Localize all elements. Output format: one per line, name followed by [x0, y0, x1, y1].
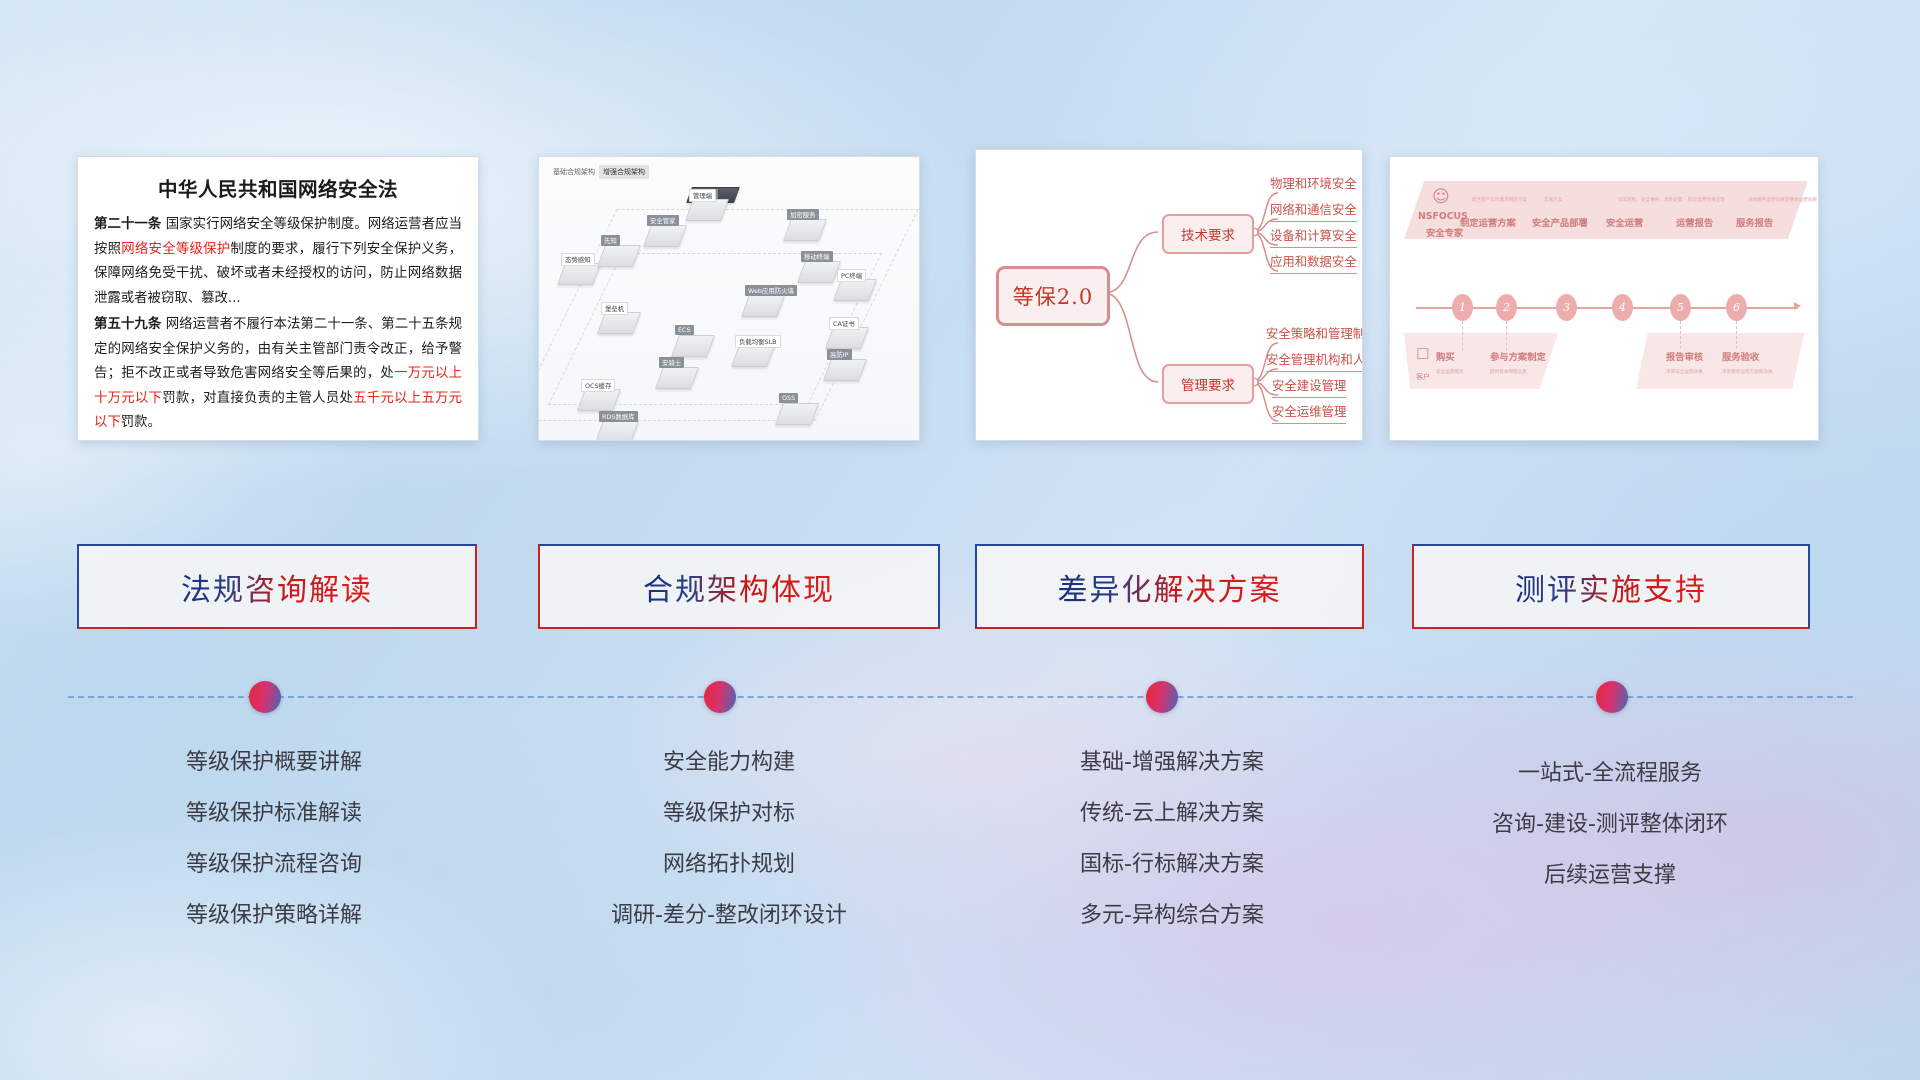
architecture-node — [825, 327, 869, 349]
architecture-node — [595, 421, 639, 441]
nsfocus-step-connector — [1736, 321, 1737, 349]
section-item: 安全能力构建 — [499, 737, 959, 788]
section-item: 后续运营支撑 — [1380, 850, 1840, 901]
architecture-node — [775, 403, 819, 425]
nsfocus-axis-arrow — [1794, 302, 1801, 310]
card-law-text: 中华人民共和国网络安全法 第二十一条 国家实行网络安全等级保护制度。网络运营者应… — [77, 156, 479, 441]
nsfocus-bottom-band-right — [1636, 333, 1804, 389]
mindmap-root: 等保2.0 — [996, 266, 1110, 326]
nsfocus-bottom-step-title: 报告审核 — [1666, 349, 1703, 363]
nsfocus-top-step-sub: 日常巡检、安全事件、高危处置 — [1618, 197, 1682, 203]
section-items-4: 一站式-全流程服务咨询-建设-测评整体闭环后续运营支撑 — [1380, 748, 1840, 901]
section-title-box-3[interactable]: 差异化解决方案 — [975, 544, 1364, 629]
architecture-node-label: 管理端 — [689, 189, 716, 202]
architecture-node-label: 安全管家 — [647, 215, 679, 226]
section-title-text: 差异化解决方案 — [1058, 565, 1282, 609]
nsfocus-step-dot: 2 — [1496, 294, 1517, 321]
article-59-text-b: 罚款，对直接负责的主管人员处 — [162, 391, 353, 406]
nsfocus-bottom-step-sub: 评审整体运营方案和效果 — [1722, 369, 1773, 375]
nsfocus-step-connector — [1506, 321, 1507, 351]
section-items-1: 等级保护概要讲解等级保护标准解读等级保护流程咨询等级保护策略详解 — [44, 737, 504, 941]
section-title-box-4[interactable]: 测评实施支持 — [1412, 544, 1810, 629]
nsfocus-bottom-step-sub: 安全运营服务 — [1436, 369, 1464, 375]
timeline-dot-4 — [1596, 681, 1628, 713]
cards-row: 中华人民共和国网络安全法 第二十一条 国家实行网络安全等级保护制度。网络运营者应… — [0, 0, 1920, 460]
timeline-dashed-line — [68, 696, 1853, 698]
section-item: 等级保护策略详解 — [44, 890, 504, 941]
section-item: 等级保护对标 — [499, 788, 959, 839]
architecture-tabs: 基础合规架构增强合规架构 — [549, 165, 649, 179]
timeline-dot-1 — [249, 681, 281, 713]
section-item: 国标-行标解决方案 — [942, 839, 1402, 890]
nsfocus-top-step-sub: 实施方案 — [1544, 197, 1562, 203]
nsfocus-top-step-title: 制定运营方案 — [1460, 215, 1516, 229]
section-item: 多元-异构综合方案 — [942, 890, 1402, 941]
nsfocus-step-dot: 6 — [1726, 294, 1747, 321]
nsfocus-bottom-step-title: 购买 — [1436, 349, 1455, 363]
nsfocus-top-step-sub: 总体服务运营效果及整体运营效果 — [1748, 197, 1817, 203]
architecture-node-label: 高防IP — [827, 349, 852, 360]
nsfocus-step-dot: 1 — [1452, 294, 1473, 321]
nsfocus-step-connector — [1462, 321, 1463, 351]
nsfocus-top-step-title: 安全运营 — [1606, 215, 1643, 229]
card-mindmap: 等保2.0 技术要求 管理要求 物理和环境安全 网络和通信安全 设备和计算安全 … — [975, 149, 1363, 441]
mindmap-leaf-m0: 安全策略和管理制度 — [1266, 324, 1363, 345]
architecture-node-label: ECS — [675, 325, 694, 335]
nsfocus-top-step-title: 服务报告 — [1736, 215, 1773, 229]
mindmap-leaf-t2: 设备和计算安全 — [1270, 226, 1357, 248]
nsfocus-canvas: ☺ NSFOCUS 安全专家 ☐ 客户 结合客户实际需求制定方案制定运营方案实施… — [1390, 157, 1818, 440]
architecture-tab-0[interactable]: 基础合规架构 — [549, 165, 599, 179]
article-59-text-c: 罚款。 — [121, 415, 161, 430]
architecture-node-label: 加密服务 — [787, 209, 819, 220]
mindmap-leaf-m1: 安全管理机构和人员 — [1266, 350, 1363, 372]
mindmap-leaf-m3: 安全运维管理 — [1272, 402, 1346, 424]
customer-icon: ☐ — [1416, 345, 1429, 363]
nsfocus-top-step-title: 安全产品部署 — [1532, 215, 1588, 229]
section-title-text: 合规架构体现 — [643, 565, 835, 609]
person-star-icon: ☺ — [1432, 187, 1450, 207]
architecture-node-label: RDS数据库 — [599, 411, 638, 422]
architecture-node-label: 态势感知 — [561, 253, 595, 266]
section-item: 传统-云上解决方案 — [942, 788, 1402, 839]
architecture-canvas: 基础合规架构增强合规架构 管理端 态势感知先知安全管家堡垒机ECS安骑士OCS缓… — [539, 157, 919, 440]
article-21-highlight: 网络安全等级保护 — [121, 242, 230, 257]
section-item: 等级保护概要讲解 — [44, 737, 504, 788]
nsfocus-step-dot: 3 — [1556, 294, 1577, 321]
mindmap-branch-technical: 技术要求 — [1162, 214, 1254, 254]
nsfocus-bottom-step-title: 参与方案制定 — [1490, 349, 1546, 363]
nsfocus-top-step-sub: 阶段运营效果呈现 — [1688, 197, 1725, 203]
architecture-node-label: 先知 — [601, 235, 620, 246]
section-item: 调研-差分-整改闭环设计 — [499, 890, 959, 941]
nsfocus-top-step-title: 运营报告 — [1676, 215, 1713, 229]
mindmap-leaf-t0: 物理和环境安全 — [1270, 174, 1357, 195]
mindmap-leaf-t3: 应用和数据安全 — [1270, 252, 1357, 274]
timeline-dot-2 — [704, 681, 736, 713]
architecture-node-label: Web应用防火墙 — [745, 285, 797, 296]
nsfocus-bottom-step-sub: 评审安全运营效果 — [1666, 369, 1703, 375]
architecture-node — [823, 359, 867, 381]
timeline-dot-3 — [1146, 681, 1178, 713]
section-item: 一站式-全流程服务 — [1380, 748, 1840, 799]
section-item: 基础-增强解决方案 — [942, 737, 1402, 788]
architecture-tab-1[interactable]: 增强合规架构 — [599, 165, 649, 179]
article-59-label: 第五十九条 — [94, 317, 161, 332]
section-items-2: 安全能力构建等级保护对标网络拓扑规划调研-差分-整改闭环设计 — [499, 737, 959, 941]
article-21-label: 第二十一条 — [94, 217, 161, 232]
architecture-node-label: 安骑士 — [659, 357, 684, 368]
nsfocus-step-dot: 5 — [1670, 294, 1691, 321]
section-item: 等级保护标准解读 — [44, 788, 504, 839]
nsfocus-top-step-sub: 结合客户实际需求制定方案 — [1472, 197, 1527, 203]
nsfocus-bottom-step-sub: 提供基本网络信息 — [1490, 369, 1527, 375]
nsfocus-bottom-step-title: 服务验收 — [1722, 349, 1759, 363]
section-title-box-1[interactable]: 法规咨询解读 — [77, 544, 477, 629]
law-article-21: 第二十一条 国家实行网络安全等级保护制度。网络运营者应当按照网络安全等级保护制度… — [94, 213, 462, 311]
architecture-node-label: 堡垒机 — [601, 302, 628, 315]
architecture-node-label: OSS — [779, 393, 798, 403]
section-item: 咨询-建设-测评整体闭环 — [1380, 799, 1840, 850]
mindmap-canvas: 等保2.0 技术要求 管理要求 物理和环境安全 网络和通信安全 设备和计算安全 … — [976, 150, 1362, 440]
nsfocus-brand-line2: 安全专家 — [1426, 225, 1463, 239]
mindmap-leaf-t1: 网络和通信安全 — [1270, 200, 1357, 222]
section-item: 等级保护流程咨询 — [44, 839, 504, 890]
nsfocus-customer-label: 客户 — [1416, 372, 1430, 382]
section-title-text: 法规咨询解读 — [181, 565, 373, 609]
architecture-node-label: OCS缓存 — [581, 379, 615, 392]
nsfocus-top-band — [1404, 181, 1808, 239]
section-items-3: 基础-增强解决方案传统-云上解决方案国标-行标解决方案多元-异构综合方案 — [942, 737, 1402, 941]
card-nsfocus-timeline: ☺ NSFOCUS 安全专家 ☐ 客户 结合客户实际需求制定方案制定运营方案实施… — [1389, 156, 1819, 441]
architecture-node-label: 移动终端 — [801, 251, 833, 262]
mindmap-branch-management: 管理要求 — [1162, 364, 1254, 404]
nsfocus-step-dot: 4 — [1612, 294, 1633, 321]
architecture-node-label: CA证书 — [829, 317, 859, 330]
section-title-box-2[interactable]: 合规架构体现 — [538, 544, 940, 629]
section-item: 网络拓扑规划 — [499, 839, 959, 890]
card-architecture-diagram: 基础合规架构增强合规架构 管理端 态势感知先知安全管家堡垒机ECS安骑士OCS缓… — [538, 156, 920, 441]
mindmap-leaf-m2: 安全建设管理 — [1272, 376, 1346, 398]
nsfocus-step-connector — [1680, 321, 1681, 349]
architecture-node-label: PC终端 — [837, 269, 866, 282]
law-article-59: 第五十九条 网络运营者不履行本法第二十一条、第二十五条规定的网络安全保护义务的，… — [94, 313, 462, 436]
architecture-node-label: 负载均衡SLB — [735, 335, 781, 348]
section-title-text: 测评实施支持 — [1515, 565, 1707, 609]
law-title: 中华人民共和国网络安全法 — [94, 173, 462, 202]
